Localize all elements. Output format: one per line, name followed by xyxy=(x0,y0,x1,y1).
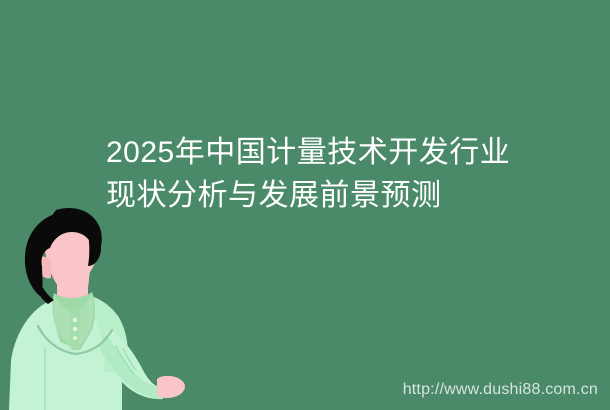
watermark-url: http://www.dushi88.com.cn xyxy=(403,381,598,399)
hoodie-neckline-outline xyxy=(38,326,112,354)
collar-back xyxy=(53,292,96,350)
hair-sideburn xyxy=(33,278,54,304)
sleeve-crease-1 xyxy=(116,346,134,374)
hoodie-shoulder-right xyxy=(66,294,125,410)
hoodie-upper-back xyxy=(62,294,128,372)
article-cover-banner: 2025年中国计量技术开发行业 现状分析与发展前景预测 http://www.d… xyxy=(0,0,610,410)
title-line-2: 现状分析与发展前景预测 xyxy=(106,174,526,217)
collar-button-1 xyxy=(73,318,77,322)
collar-group xyxy=(53,292,96,350)
hoodie-body-shape xyxy=(9,295,124,410)
face-shape xyxy=(44,212,99,294)
title-line-1: 2025年中国计量技术开发行业 xyxy=(106,131,526,174)
collar-center-placket xyxy=(70,310,80,350)
collar-right-flap xyxy=(75,292,94,348)
hair-side-sweep xyxy=(86,226,101,266)
collar-button-3 xyxy=(73,336,77,340)
sleeve-crease-2 xyxy=(123,348,136,370)
neck-shape xyxy=(57,268,88,310)
collar-left-flap xyxy=(53,295,72,348)
head-group xyxy=(25,208,102,304)
hand-shape xyxy=(157,376,185,398)
page-title: 2025年中国计量技术开发行业 现状分析与发展前景预测 xyxy=(106,131,526,217)
hair-top-volume xyxy=(46,208,102,258)
hoodie-sleeve-lower xyxy=(99,334,163,399)
hoodie-group xyxy=(9,294,185,410)
collar-button-2 xyxy=(73,327,77,331)
hair-shape xyxy=(25,211,99,296)
ear-shape xyxy=(37,256,51,278)
hoodie-sleeve-arm xyxy=(99,330,163,399)
